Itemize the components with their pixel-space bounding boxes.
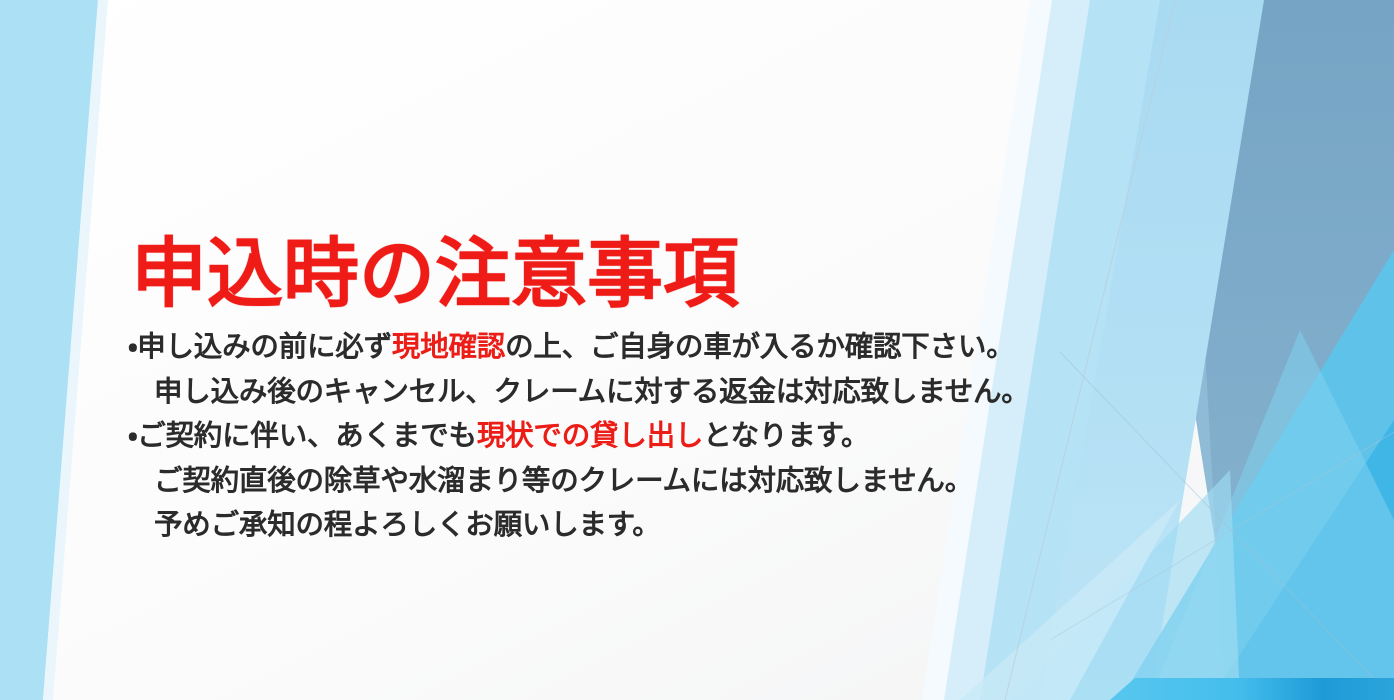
body-text-segment: ご契約に伴い、あくまでも (137, 420, 477, 452)
body-line: ・申し込みの前に必ず現地確認の上、ご自身の車が入るか確認下さい。 (128, 325, 1128, 370)
body-line: ご契約直後の除草や水溜まり等のクレームには対応致しません。 (128, 459, 1128, 504)
page-title: 申込時の注意事項 (131, 227, 739, 323)
emphasis-text: 現状での貸し出し (477, 420, 703, 452)
body-text-block: ・申し込みの前に必ず現地確認の上、ご自身の車が入るか確認下さい。申し込み後のキャ… (128, 325, 1128, 548)
presentation-slide: 申込時の注意事項 ・申し込みの前に必ず現地確認の上、ご自身の車が入るか確認下さい… (0, 0, 1394, 700)
body-text-segment: 予めご承知の程よろしくお願いします。 (154, 509, 661, 541)
body-text-segment: となります。 (703, 420, 869, 452)
bullet-marker: ・ (128, 420, 137, 452)
body-line: ・ご契約に伴い、あくまでも現状での貸し出しとなります。 (128, 414, 1128, 459)
body-line: 申し込み後のキャンセル、クレームに対する返金は対応致しません。 (128, 370, 1128, 415)
body-line: 予めご承知の程よろしくお願いします。 (128, 503, 1128, 548)
body-text-segment: ご契約直後の除草や水溜まり等のクレームには対応致しません。 (154, 465, 973, 497)
body-text-segment: 申し込み後のキャンセル、クレームに対する返金は対応致しません。 (154, 376, 1030, 408)
slide-content: 申込時の注意事項 ・申し込みの前に必ず現地確認の上、ご自身の車が入るか確認下さい… (0, 0, 1394, 700)
body-text-segment: 申し込みの前に必ず (137, 331, 392, 363)
body-text-segment: の上、ご自身の車が入るか確認下さい。 (505, 331, 1014, 363)
emphasis-text: 現地確認 (392, 331, 505, 363)
bullet-marker: ・ (128, 331, 137, 363)
